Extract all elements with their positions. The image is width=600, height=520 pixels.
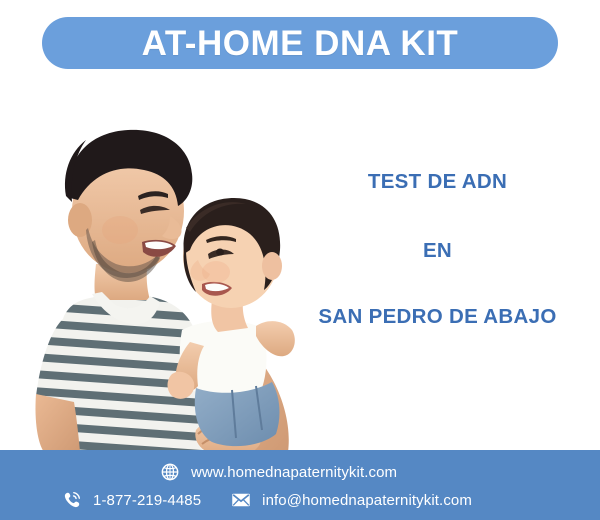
badge-pill: AT-HOME DNA KIT bbox=[42, 17, 558, 69]
envelope-icon bbox=[231, 490, 251, 510]
header-badge: AT-HOME DNA KIT bbox=[42, 17, 558, 69]
family-photo-illustration bbox=[0, 78, 320, 452]
footer-contact-bar: www.homednapaternitykit.com 1-877-219-44… bbox=[0, 450, 600, 520]
globe-icon bbox=[160, 462, 180, 482]
headline-line-1: TEST DE ADN bbox=[285, 170, 590, 194]
badge-label: AT-HOME DNA KIT bbox=[142, 26, 459, 61]
headline-block: TEST DE ADN EN SAN PEDRO DE ABAJO bbox=[285, 150, 590, 329]
email-item[interactable]: info@homednapaternitykit.com bbox=[231, 490, 472, 510]
website-text: www.homednapaternitykit.com bbox=[191, 464, 397, 481]
promo-banner: AT-HOME DNA KIT bbox=[0, 0, 600, 520]
phone-text: 1-877-219-4485 bbox=[93, 492, 201, 509]
website-item[interactable]: www.homednapaternitykit.com bbox=[160, 462, 397, 482]
headline-line-2: EN bbox=[285, 239, 590, 263]
family-photo bbox=[0, 78, 320, 452]
phone-icon bbox=[62, 490, 82, 510]
headline-line-3: SAN PEDRO DE ABAJO bbox=[285, 305, 590, 329]
email-text: info@homednapaternitykit.com bbox=[262, 492, 472, 509]
footer-row-phone-email: 1-877-219-4485 info@homednapaternitykit.… bbox=[62, 490, 472, 510]
footer-row-website: www.homednapaternitykit.com bbox=[160, 462, 397, 482]
phone-item[interactable]: 1-877-219-4485 bbox=[62, 490, 201, 510]
